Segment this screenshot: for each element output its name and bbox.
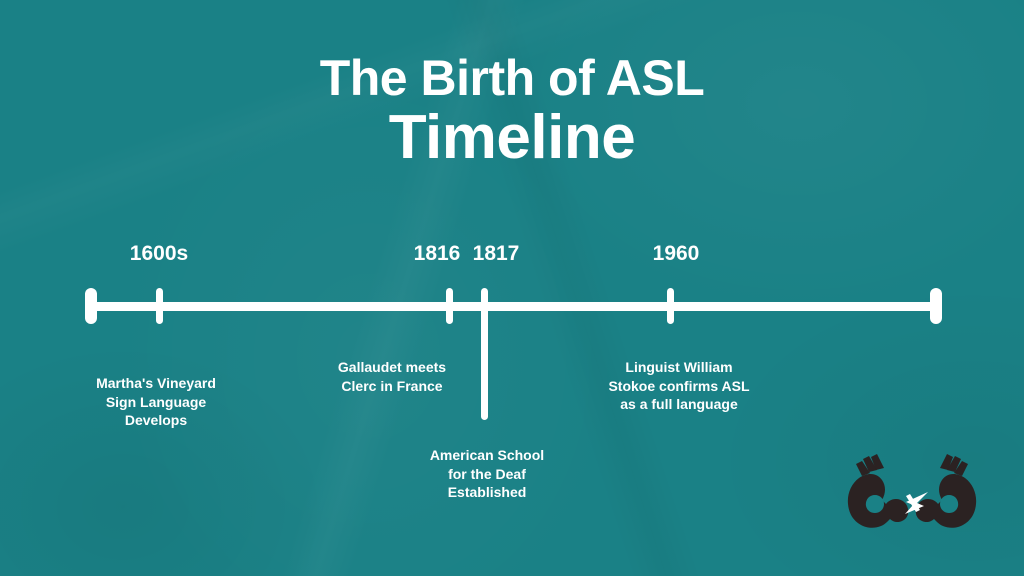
- timeline-axis: [85, 302, 936, 311]
- timeline-year-label: 1816: [414, 242, 461, 266]
- infographic-canvas: The Birth of ASL Timeline 1600sMartha's …: [0, 0, 1024, 576]
- title-line-1: The Birth of ASL: [0, 52, 1024, 105]
- page-title: The Birth of ASL Timeline: [0, 52, 1024, 171]
- timeline-event-caption: Martha's Vineyard Sign Language Develops: [96, 374, 216, 430]
- timeline-year-label: 1600s: [130, 242, 188, 266]
- timeline-year-label: 1817: [473, 242, 520, 266]
- timeline-event-caption: American School for the Deaf Established: [430, 446, 544, 502]
- title-line-2: Timeline: [0, 105, 1024, 171]
- timeline-event-caption: Linguist William Stokoe confirms ASL as …: [608, 358, 749, 414]
- timeline-end-cap: [930, 288, 942, 324]
- timeline-tick-1600s[interactable]: [156, 288, 163, 324]
- timeline-start-cap: [85, 288, 97, 324]
- timeline-event-caption: Gallaudet meets Clerc in France: [338, 358, 446, 395]
- timeline-tick-1960[interactable]: [667, 288, 674, 324]
- asl-signing-hands-illustration: [832, 448, 992, 558]
- timeline-tick-1817[interactable]: [481, 288, 488, 420]
- timeline-year-label: 1960: [653, 242, 700, 266]
- timeline-tick-1816[interactable]: [446, 288, 453, 324]
